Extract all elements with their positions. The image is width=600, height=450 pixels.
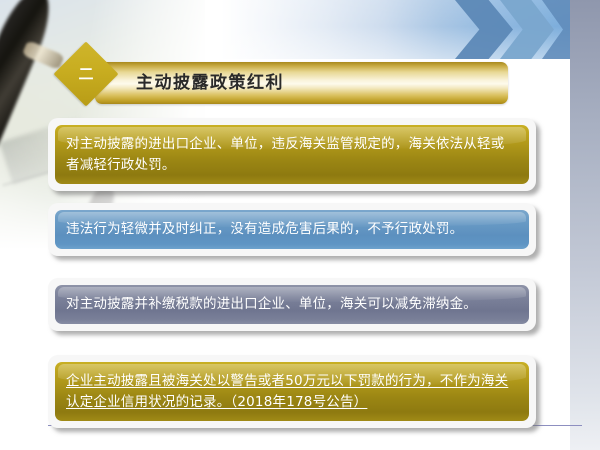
content-box-text: 违法行为轻微并及时纠正，没有造成危害后果的，不予行政处罚。 [66, 219, 518, 240]
content-box-text: 对主动披露的进出口企业、单位，违反海关监管规定的，海关依法从轻或者减轻行政处罚。 [66, 134, 518, 175]
content-box: 对主动披露并补缴税款的进出口企业、单位，海关可以减免滞纳金。 [48, 278, 536, 331]
content-box-body: 对主动披露并补缴税款的进出口企业、单位，海关可以减免滞纳金。 [55, 285, 529, 324]
section-title-group: 主动披露政策红利 二 [63, 62, 508, 104]
content-box-body: 违法行为轻微并及时纠正，没有造成危害后果的，不予行政处罚。 [55, 210, 529, 249]
content-box-body: 对主动披露的进出口企业、单位，违反海关监管规定的，海关依法从轻或者减轻行政处罚。 [55, 125, 529, 184]
content-box: 违法行为轻微并及时纠正，没有造成危害后果的，不予行政处罚。 [48, 203, 536, 256]
content-box: 企业主动披露且被海关处以警告或者50万元以下罚款的行为，不作为海关认定企业信用状… [48, 355, 536, 428]
section-number-label: 二 [63, 51, 109, 97]
page-title: 主动披露政策红利 [136, 62, 284, 104]
content-box-body: 企业主动披露且被海关处以警告或者50万元以下罚款的行为，不作为海关认定企业信用状… [55, 362, 529, 421]
content-box-text: 对主动披露并补缴税款的进出口企业、单位，海关可以减免滞纳金。 [66, 294, 518, 315]
content-box-text: 企业主动披露且被海关处以警告或者50万元以下罚款的行为，不作为海关认定企业信用状… [66, 371, 518, 412]
presentation-slide: 主动披露政策红利 二 对主动披露的进出口企业、单位，违反海关监管规定的，海关依法… [0, 0, 600, 450]
content-box: 对主动披露的进出口企业、单位，违反海关监管规定的，海关依法从轻或者减轻行政处罚。 [48, 118, 536, 191]
right-edge-band [570, 0, 600, 450]
